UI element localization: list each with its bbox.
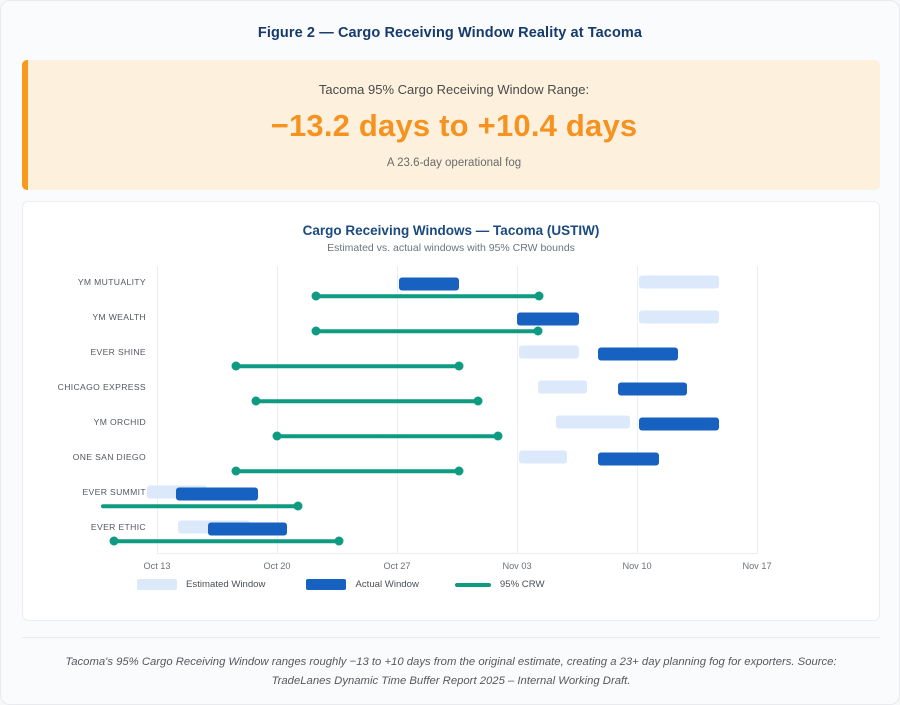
legend-item-estimated[interactable]: Estimated Window — [137, 579, 265, 590]
chart-legend: Estimated WindowActual Window95% CRW — [137, 579, 545, 590]
estimated-window-bar[interactable] — [639, 311, 720, 324]
y-axis-label-ym-orchid: YM ORCHID — [1, 417, 146, 427]
estimated-window-bar[interactable] — [519, 451, 567, 464]
crw-high-marker[interactable] — [494, 432, 503, 441]
gridline-nov-03 — [517, 266, 518, 554]
figure-page: Figure 2 — Cargo Receiving Window Realit… — [0, 0, 900, 705]
actual-window-bar[interactable] — [176, 488, 258, 501]
crw-high-marker[interactable] — [454, 467, 463, 476]
crw-low-marker[interactable] — [231, 362, 240, 371]
x-axis-tick-label: Nov 03 — [502, 561, 531, 571]
crw-low-marker[interactable] — [312, 327, 321, 336]
x-axis-tick-label: Oct 27 — [383, 561, 410, 571]
gridline-nov-17 — [757, 266, 758, 554]
crw-high-marker[interactable] — [535, 292, 544, 301]
crw-interval-line[interactable] — [236, 364, 459, 368]
estimated-window-bar[interactable] — [556, 416, 630, 429]
legend-item-crw[interactable]: 95% CRW — [455, 579, 545, 590]
legend-swatch-actual-icon — [306, 579, 346, 590]
x-axis-tick-label: Oct 13 — [143, 561, 170, 571]
x-axis-tick-label: Nov 10 — [622, 561, 651, 571]
crw-interval-line[interactable] — [277, 434, 498, 438]
crw-interval-line[interactable] — [101, 504, 298, 508]
actual-window-bar[interactable] — [618, 383, 687, 396]
legend-label: Estimated Window — [186, 579, 265, 590]
crw-interval-line[interactable] — [236, 469, 459, 473]
legend-swatch-estimated-icon — [137, 579, 177, 590]
gridline-oct-20 — [277, 266, 278, 554]
actual-window-bar[interactable] — [639, 418, 720, 431]
crw-interval-line[interactable] — [256, 399, 477, 403]
x-axis-line — [157, 553, 758, 554]
actual-window-bar[interactable] — [399, 278, 459, 291]
y-axis-label-ever-ethic: EVER ETHIC — [1, 522, 146, 532]
actual-window-bar[interactable] — [208, 523, 287, 536]
crw-high-marker[interactable] — [334, 537, 343, 546]
estimated-window-bar[interactable] — [519, 346, 579, 359]
footer-caption: Tacoma's 95% Cargo Receiving Window rang… — [22, 653, 880, 690]
legend-label: 95% CRW — [500, 579, 545, 590]
crw-low-marker[interactable] — [231, 467, 240, 476]
actual-window-bar[interactable] — [517, 313, 579, 326]
gridline-oct-13 — [157, 266, 158, 554]
y-axis-label-ever-summit: EVER SUMMIT — [1, 487, 146, 497]
crw-low-marker[interactable] — [273, 432, 282, 441]
actual-window-bar[interactable] — [598, 453, 660, 466]
gridline-nov-10 — [637, 266, 638, 554]
actual-window-bar[interactable] — [598, 348, 679, 361]
legend-label: Actual Window — [355, 579, 418, 590]
estimated-window-bar[interactable] — [538, 381, 588, 394]
crw-low-marker[interactable] — [312, 292, 321, 301]
crw-interval-line[interactable] — [316, 294, 539, 298]
y-axis-label-ym-wealth: YM WEALTH — [1, 312, 146, 322]
crw-high-marker[interactable] — [454, 362, 463, 371]
y-axis-label-ym-mutuality: YM MUTUALITY — [1, 277, 146, 287]
crw-interval-line[interactable] — [114, 539, 339, 543]
crw-high-marker[interactable] — [473, 397, 482, 406]
legend-swatch-crw-icon — [455, 583, 491, 587]
crw-high-marker[interactable] — [293, 502, 302, 511]
x-axis-tick-label: Oct 20 — [263, 561, 290, 571]
y-axis-label-chicago-express: CHICAGO EXPRESS — [1, 382, 146, 392]
y-axis-label-ever-shine: EVER SHINE — [1, 347, 146, 357]
chart-plot-area: YM MUTUALITYYM WEALTHEVER SHINECHICAGO E… — [1, 1, 899, 704]
y-axis-label-one-san-diego: ONE SAN DIEGO — [1, 452, 146, 462]
crw-low-marker[interactable] — [110, 537, 119, 546]
crw-low-marker[interactable] — [252, 397, 261, 406]
legend-item-actual[interactable]: Actual Window — [306, 579, 418, 590]
footer: Tacoma's 95% Cargo Receiving Window rang… — [22, 637, 880, 690]
estimated-window-bar[interactable] — [639, 276, 720, 289]
gridline-oct-27 — [397, 266, 398, 554]
crw-high-marker[interactable] — [533, 327, 542, 336]
x-axis-tick-label: Nov 17 — [742, 561, 771, 571]
crw-interval-line[interactable] — [316, 329, 537, 333]
